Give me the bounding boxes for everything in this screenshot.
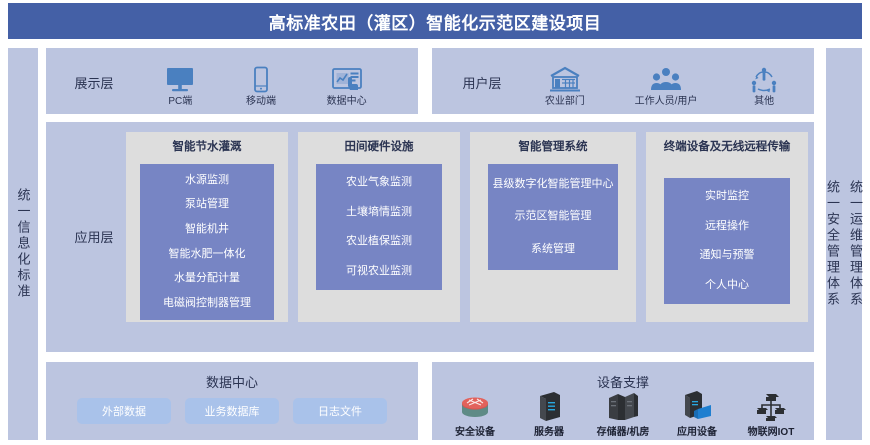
app-item[interactable]: 县级数字化智能管理中心 — [488, 178, 618, 191]
user-item-agri-dept[interactable]: 农业部门 — [545, 64, 585, 108]
app-item[interactable]: 智能水肥一体化 — [140, 248, 274, 261]
app-column-2-items: 农业气象监测 土壤墒情监测 农业植保监测 可视农业监测 — [316, 164, 442, 290]
device-item-application[interactable]: 应用设备 — [660, 388, 734, 438]
user-item-other[interactable]: 其他 — [747, 64, 781, 108]
application-device-icon — [680, 388, 714, 422]
user-item-other-label: 其他 — [754, 96, 774, 108]
app-column-terminal-transmission: 终端设备及无线远程传输 实时监控 远程操作 通知与预警 个人中心 — [646, 132, 808, 322]
data-center-title: 数据中心 — [46, 372, 418, 391]
app-column-4-title: 终端设备及无线远程传输 — [646, 140, 808, 154]
app-item[interactable]: 智能机井 — [140, 223, 274, 236]
storage-rack-icon — [605, 388, 641, 422]
iot-network-icon — [753, 388, 789, 422]
data-chip-log-file[interactable]: 日志文件 — [293, 398, 387, 424]
building-icon — [548, 64, 582, 94]
display-layer-label: 展示层 — [56, 68, 132, 96]
app-item[interactable]: 示范区智能管理 — [488, 210, 618, 223]
app-item[interactable]: 土壤墒情监测 — [316, 206, 442, 219]
app-item[interactable]: 水源监测 — [140, 174, 274, 187]
app-item[interactable]: 个人中心 — [664, 279, 790, 292]
monitor-icon — [165, 64, 195, 94]
app-column-3-title: 智能管理系统 — [470, 140, 636, 154]
display-layer-icons: PC端 移动端 — [140, 56, 392, 108]
page-title: 高标准农田（灌区）智能化示范区建设项目 — [8, 3, 862, 39]
data-chip-business-db[interactable]: 业务数据库 — [185, 398, 279, 424]
device-support-panel: 设备支撑 — [432, 362, 814, 440]
firewall-router-icon — [457, 388, 493, 422]
device-item-storage[interactable]: 存储器/机房 — [586, 388, 660, 438]
display-item-data-center[interactable]: 数据中心 — [327, 64, 367, 108]
app-column-1-title: 智能节水灌溉 — [126, 140, 288, 154]
device-support-icons: 安全设备 服务器 — [438, 388, 808, 438]
people-group-icon — [650, 64, 682, 94]
user-layer-icons: 农业部门 工作人员/用户 — [520, 56, 806, 108]
device-item-storage-label: 存储器/机房 — [597, 423, 650, 438]
app-item[interactable]: 农业气象监测 — [316, 176, 442, 189]
app-column-4-items: 实时监控 远程操作 通知与预警 个人中心 — [664, 178, 790, 304]
display-item-mobile-label: 移动端 — [246, 96, 276, 108]
app-item[interactable]: 通知与预警 — [664, 249, 790, 262]
app-item[interactable]: 泵站管理 — [140, 198, 274, 211]
app-item[interactable]: 电磁阀控制器管理 — [140, 297, 274, 310]
user-layer-label: 用户层 — [444, 68, 520, 96]
app-column-field-hardware: 田间硬件设施 农业气象监测 土壤墒情监测 农业植保监测 可视农业监测 — [298, 132, 460, 322]
mobile-phone-icon — [246, 64, 276, 94]
app-item[interactable]: 可视农业监测 — [316, 265, 442, 278]
right-management-rail: 统一安全管理体系 统一运维管理体系 — [826, 48, 862, 440]
data-center-panel: 数据中心 外部数据 业务数据库 日志文件 — [46, 362, 418, 440]
app-column-1-items: 水源监测 泵站管理 智能机井 智能水肥一体化 水量分配计量 电磁阀控制器管理 — [140, 164, 274, 320]
left-standard-rail: 统一信息化标准 — [8, 48, 38, 440]
server-tower-icon — [534, 388, 564, 422]
device-item-application-label: 应用设备 — [677, 423, 717, 438]
app-item[interactable]: 实时监控 — [664, 190, 790, 203]
app-column-3-items: 县级数字化智能管理中心 示范区智能管理 系统管理 — [488, 164, 618, 270]
app-item[interactable]: 远程操作 — [664, 220, 790, 233]
app-item[interactable]: 农业植保监测 — [316, 235, 442, 248]
architecture-diagram: 高标准农田（灌区）智能化示范区建设项目 统一信息化标准 统一安全管理体系 统一运… — [0, 0, 870, 445]
app-item[interactable]: 水量分配计量 — [140, 272, 274, 285]
display-item-pc-label: PC端 — [168, 96, 192, 108]
display-item-pc[interactable]: PC端 — [165, 64, 195, 108]
display-item-data-center-label: 数据中心 — [327, 96, 367, 108]
device-item-security[interactable]: 安全设备 — [438, 388, 512, 438]
application-layer-label: 应用层 — [56, 222, 132, 250]
data-chip-external[interactable]: 外部数据 — [77, 398, 171, 424]
display-item-mobile[interactable]: 移动端 — [246, 64, 276, 108]
right-rail-label-security: 统一安全管理体系 — [823, 180, 842, 308]
data-center-chips: 外部数据 业务数据库 日志文件 — [46, 398, 418, 424]
people-cycle-icon — [747, 64, 781, 94]
user-item-staff[interactable]: 工作人员/用户 — [635, 64, 698, 108]
app-item[interactable]: 系统管理 — [488, 243, 618, 256]
data-dashboard-icon — [331, 64, 363, 94]
device-item-iot[interactable]: 物联网IOT — [734, 388, 808, 438]
right-rail-label-operations: 统一运维管理体系 — [846, 180, 865, 308]
device-item-security-label: 安全设备 — [455, 423, 495, 438]
device-item-server[interactable]: 服务器 — [512, 388, 586, 438]
user-item-agri-dept-label: 农业部门 — [545, 96, 585, 108]
app-column-smart-irrigation: 智能节水灌溉 水源监测 泵站管理 智能机井 智能水肥一体化 水量分配计量 电磁阀… — [126, 132, 288, 322]
app-column-management-system: 智能管理系统 县级数字化智能管理中心 示范区智能管理 系统管理 — [470, 132, 636, 322]
left-rail-label: 统一信息化标准 — [14, 188, 33, 300]
user-item-staff-label: 工作人员/用户 — [635, 96, 698, 108]
device-item-server-label: 服务器 — [534, 423, 564, 438]
device-item-iot-label: 物联网IOT — [748, 423, 795, 438]
app-column-2-title: 田间硬件设施 — [298, 140, 460, 154]
